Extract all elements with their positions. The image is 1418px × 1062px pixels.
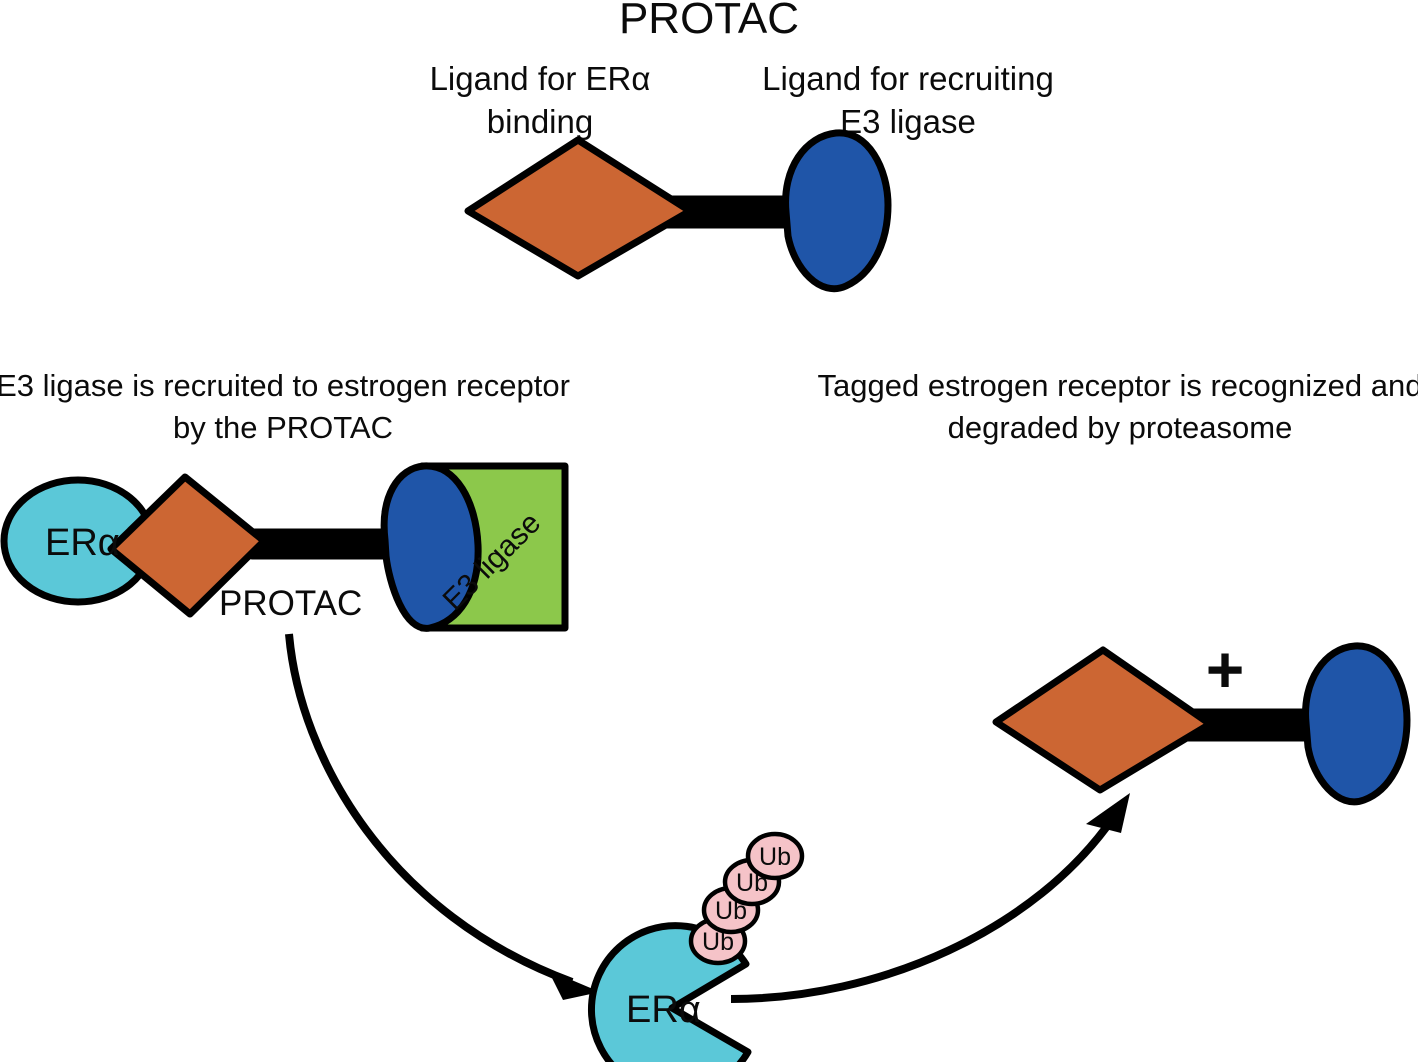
protac-mechanism-figure: PROTAC Ligand for ERα binding Ligand for… xyxy=(0,0,1418,1062)
plus-sign-label: + xyxy=(1206,632,1245,706)
left-arrow-shaft xyxy=(289,634,572,982)
era-label-left: ERα xyxy=(45,522,120,564)
right-panel-caption-line1: Tagged estrogen receptor is recognized a… xyxy=(818,368,1418,403)
right-arrowhead-icon xyxy=(1086,793,1130,833)
top-protac-molecule xyxy=(468,133,888,289)
top-e3-binder-blob-icon xyxy=(786,133,888,289)
ligand-e3-label-line2: E3 ligase xyxy=(840,103,976,140)
left-panel-caption-line1: E3 ligase is recruited to estrogen recep… xyxy=(0,368,570,403)
ligand-e3-label-line1: Ligand for recruiting xyxy=(762,60,1054,97)
protac-label: PROTAC xyxy=(219,584,362,623)
ternary-complex-group: ERα PROTAC E3 ligase xyxy=(4,466,565,628)
era-label-bottom: ERα xyxy=(626,989,701,1031)
left-linker-icon xyxy=(252,532,392,556)
ligand-era-label-line1: Ligand for ERα xyxy=(430,60,651,97)
right-panel-caption-line2: degraded by proteasome xyxy=(948,410,1293,445)
ubiquitin-chain: Ub Ub Ub Ub xyxy=(691,834,802,963)
figure-title: PROTAC xyxy=(619,0,799,43)
top-warhead-diamond-icon xyxy=(468,140,690,276)
right-curved-arrow xyxy=(731,793,1130,999)
ligand-era-label-line2: binding xyxy=(487,103,593,140)
left-curved-arrow xyxy=(289,634,600,1000)
ubiquitinated-era-group: ERα Ub Ub Ub Ub xyxy=(591,834,802,1062)
left-panel-caption-line2: by the PROTAC xyxy=(173,410,393,445)
right-e3-binder-blob-icon xyxy=(1306,646,1407,802)
released-protac-molecule: + xyxy=(996,632,1407,802)
right-warhead-diamond-icon xyxy=(996,650,1210,790)
ubiquitin-label-4: Ub xyxy=(759,843,791,871)
